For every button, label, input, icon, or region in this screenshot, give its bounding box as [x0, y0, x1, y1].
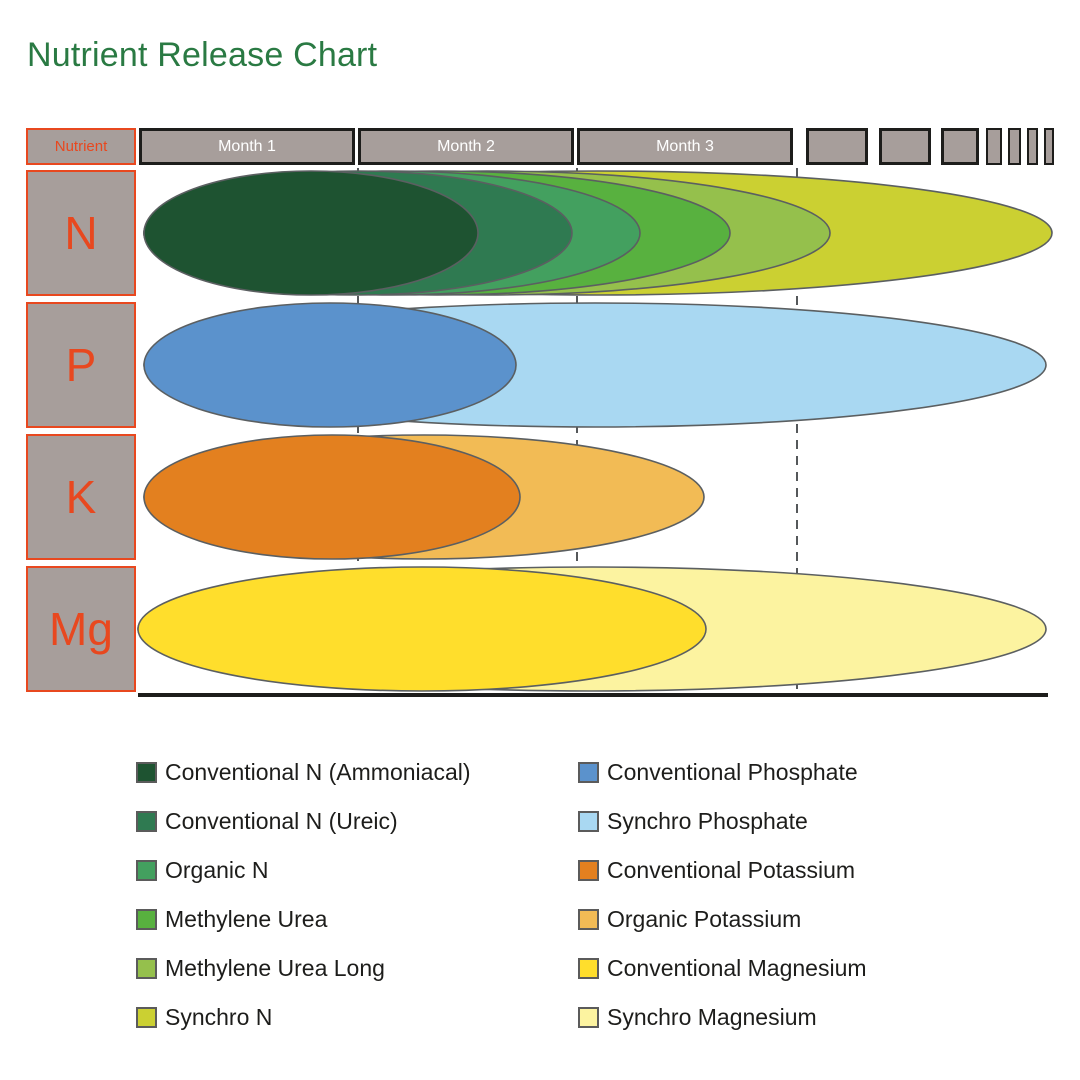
header-cell-tick-6	[941, 128, 979, 165]
release-ellipse-conventional-n-ammoniacal	[144, 171, 478, 295]
legend-column-left: Conventional N (Ammoniacal)Conventional …	[136, 748, 556, 1042]
release-ellipse-organic-potassium	[144, 435, 704, 559]
release-ellipse-methylene-urea	[144, 171, 730, 295]
legend-item[interactable]: Organic N	[136, 846, 556, 895]
legend-item-label: Methylene Urea Long	[165, 957, 385, 980]
release-ellipse-organic-n	[144, 171, 640, 295]
legend-item-label: Conventional N (Ammoniacal)	[165, 761, 471, 784]
row-label-k: K	[26, 434, 136, 560]
legend-swatch-icon	[136, 1007, 157, 1028]
legend-item-label: Synchro N	[165, 1006, 272, 1029]
release-ellipses	[138, 171, 1052, 691]
release-ellipse-conventional-n-ureic	[144, 171, 572, 295]
legend-item[interactable]: Conventional Potassium	[578, 846, 1018, 895]
release-ellipse-conventional-phosphate	[144, 303, 516, 427]
legend-swatch-icon	[578, 958, 599, 979]
legend-item[interactable]: Synchro Phosphate	[578, 797, 1018, 846]
release-ellipse-synchro-phosphate	[144, 303, 1046, 427]
release-ellipse-conventional-potassium	[144, 435, 520, 559]
chart-canvas: Nutrient Release Chart NutrientMonth 1Mo…	[0, 0, 1080, 1080]
legend-item[interactable]: Conventional Magnesium	[578, 944, 1018, 993]
legend-item-label: Conventional Phosphate	[607, 761, 858, 784]
legend-item[interactable]: Conventional Phosphate	[578, 748, 1018, 797]
release-ellipse-methylene-urea-long	[144, 171, 830, 295]
legend-item[interactable]: Synchro N	[136, 993, 556, 1042]
legend-swatch-icon	[136, 860, 157, 881]
header-cell-tick-7	[986, 128, 1002, 165]
legend-swatch-icon	[136, 909, 157, 930]
page-title: Nutrient Release Chart	[27, 34, 377, 76]
legend-item[interactable]: Conventional N (Ammoniacal)	[136, 748, 556, 797]
legend-item-label: Organic Potassium	[607, 908, 801, 931]
header-cell-tick-5	[879, 128, 931, 165]
header-cell-month-2: Month 2	[358, 128, 574, 165]
row-label-p: P	[26, 302, 136, 428]
legend-swatch-icon	[578, 811, 599, 832]
legend-item[interactable]: Synchro Magnesium	[578, 993, 1018, 1042]
legend-swatch-icon	[578, 762, 599, 783]
legend-column-right: Conventional PhosphateSynchro PhosphateC…	[578, 748, 1018, 1042]
header-cell-tick-10	[1044, 128, 1054, 165]
release-ellipse-synchro-magnesium	[138, 567, 1046, 691]
legend-item-label: Conventional N (Ureic)	[165, 810, 398, 833]
release-ellipse-synchro-n	[144, 171, 1052, 295]
legend-item-label: Synchro Magnesium	[607, 1006, 817, 1029]
row-label-mg: Mg	[26, 566, 136, 692]
legend-item[interactable]: Conventional N (Ureic)	[136, 797, 556, 846]
legend-swatch-icon	[136, 762, 157, 783]
legend-item[interactable]: Methylene Urea	[136, 895, 556, 944]
legend-swatch-icon	[136, 958, 157, 979]
header-cell-tick-4	[806, 128, 868, 165]
legend-item[interactable]: Organic Potassium	[578, 895, 1018, 944]
legend-item-label: Conventional Potassium	[607, 859, 855, 882]
header-cell-month-3: Month 3	[577, 128, 793, 165]
header-cell-tick-9	[1027, 128, 1038, 165]
legend-item[interactable]: Methylene Urea Long	[136, 944, 556, 993]
header-cell-tick-8	[1008, 128, 1021, 165]
gridlines	[358, 168, 797, 695]
header-cell-month-1: Month 1	[139, 128, 355, 165]
legend-item-label: Conventional Magnesium	[607, 957, 867, 980]
legend-item-label: Synchro Phosphate	[607, 810, 808, 833]
header-cell-nutrient: Nutrient	[26, 128, 136, 165]
legend-item-label: Methylene Urea	[165, 908, 327, 931]
legend-swatch-icon	[136, 811, 157, 832]
legend-swatch-icon	[578, 1007, 599, 1028]
legend-swatch-icon	[578, 860, 599, 881]
legend-item-label: Organic N	[165, 859, 269, 882]
release-ellipse-conventional-magnesium	[138, 567, 706, 691]
row-label-n: N	[26, 170, 136, 296]
legend-swatch-icon	[578, 909, 599, 930]
